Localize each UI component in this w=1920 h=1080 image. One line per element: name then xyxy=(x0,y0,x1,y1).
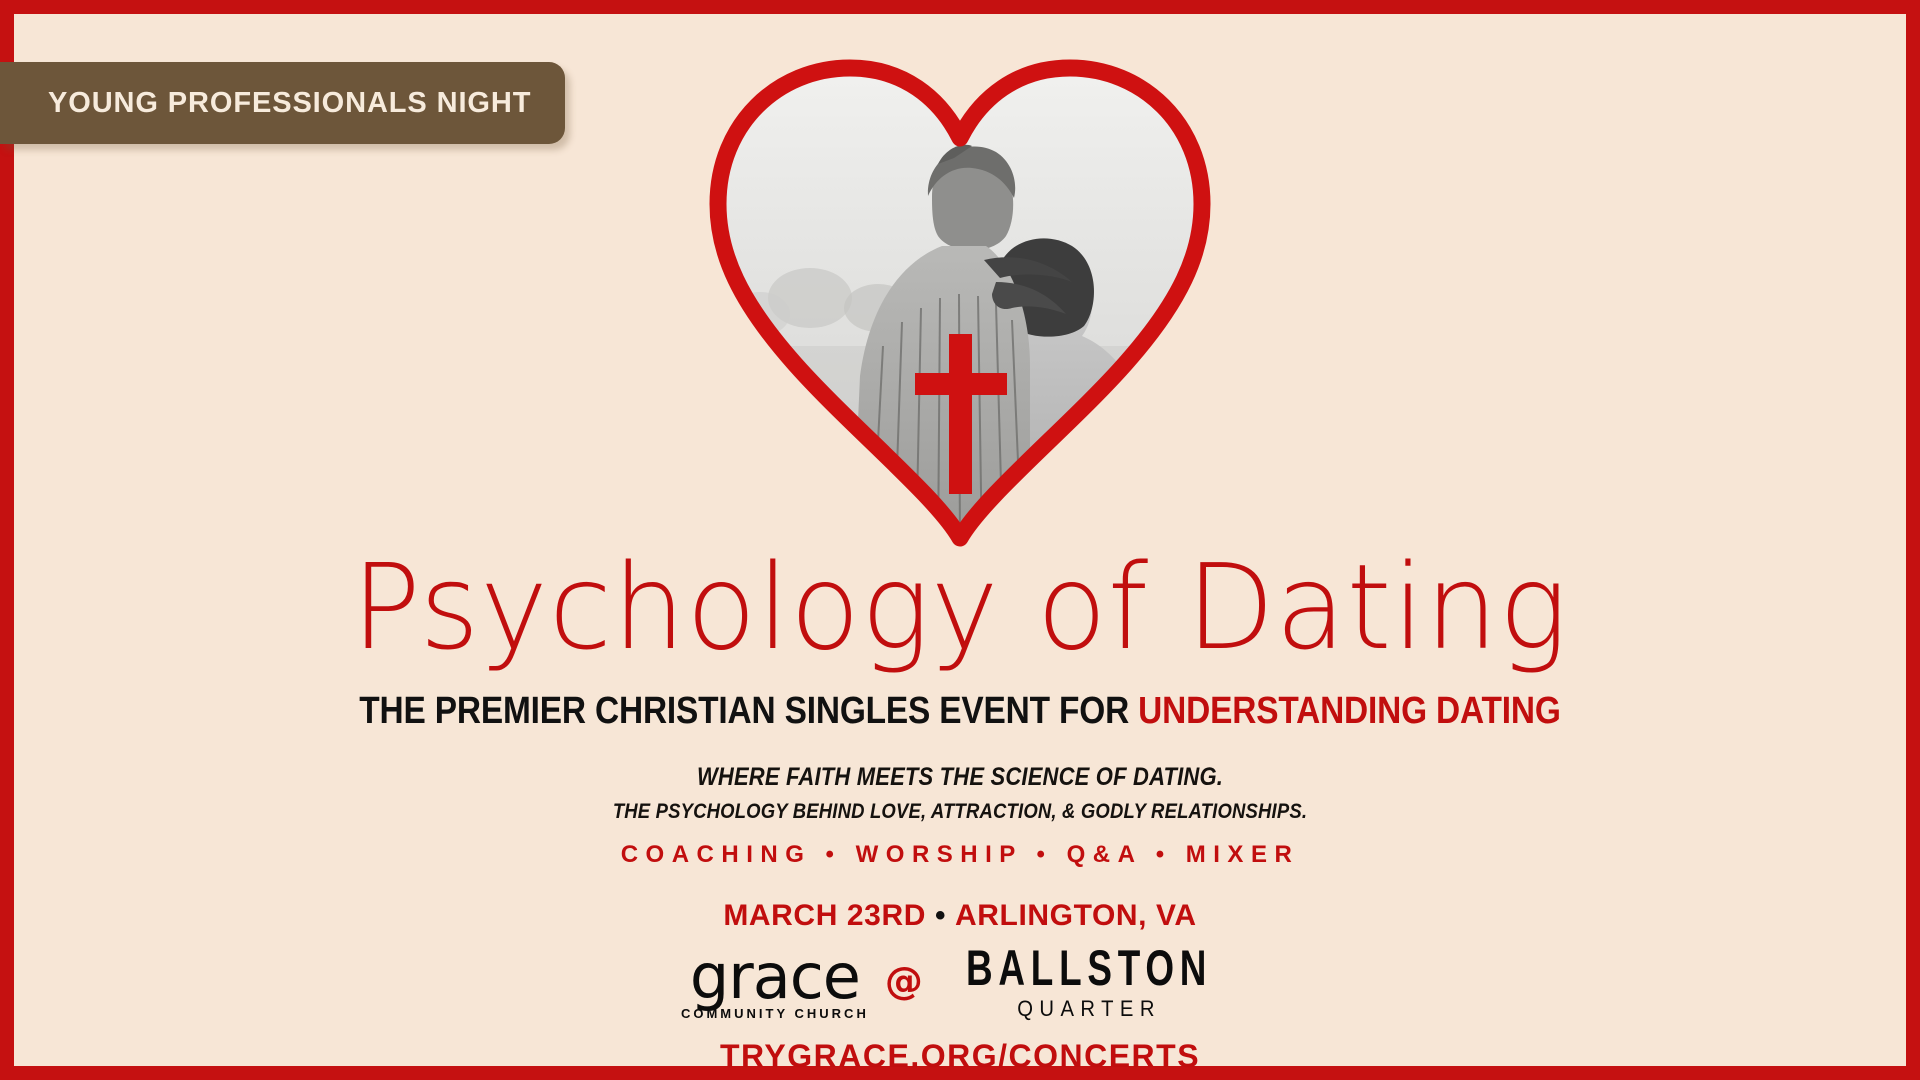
grace-wordmark: grace xyxy=(690,950,860,1003)
flyer-root: YOUNG PROFESSIONALS NIGHT xyxy=(0,0,1920,1080)
event-location: ARLINGTON, VA xyxy=(955,899,1197,932)
ballston-wordmark: BALLSTON xyxy=(966,942,1212,992)
badge-label: YOUNG PROFESSIONALS NIGHT xyxy=(48,87,531,120)
ballston-tagline: QUARTER xyxy=(1017,996,1161,1022)
grace-tagline: COMMUNITY CHURCH xyxy=(681,1006,869,1021)
event-date: MARCH 23RD xyxy=(723,899,926,932)
subtitle-lead: THE PREMIER CHRISTIAN SINGLES EVENT FOR xyxy=(359,690,1138,732)
heart-photo-icon xyxy=(700,46,1220,556)
grace-church-logo: grace COMMUNITY CHURCH xyxy=(681,950,869,1020)
at-symbol-icon: @ xyxy=(885,959,923,1013)
ballston-quarter-logo: BALLSTON QUARTER xyxy=(939,945,1239,1026)
flyer-canvas: YOUNG PROFESSIONALS NIGHT xyxy=(14,14,1906,1066)
event-url[interactable]: TRYGRACE.ORG/CONCERTS xyxy=(14,1038,1906,1075)
event-title: Psychology of Dating xyxy=(42,548,1877,666)
event-date-location: MARCH 23RD • ARLINGTON, VA xyxy=(14,899,1906,933)
event-subtitle: THE PREMIER CHRISTIAN SINGLES EVENT FOR … xyxy=(128,690,1793,733)
logo-row: grace COMMUNITY CHURCH @ BALLSTON QUARTE… xyxy=(14,945,1906,1026)
bullet-separator: • xyxy=(935,899,946,932)
features-list: COACHING • WORSHIP • Q&A • MIXER xyxy=(14,841,1906,869)
tagline-secondary: THE PSYCHOLOGY BEHIND LOVE, ATTRACTION, … xyxy=(128,800,1793,824)
subtitle-highlight: UNDERSTANDING DATING xyxy=(1138,690,1561,732)
tagline-primary: WHERE FAITH MEETS THE SCIENCE OF DATING. xyxy=(128,763,1793,792)
young-professionals-badge: YOUNG PROFESSIONALS NIGHT xyxy=(0,62,565,144)
flyer-content: Psychology of Dating THE PREMIER CHRISTI… xyxy=(14,548,1906,1075)
